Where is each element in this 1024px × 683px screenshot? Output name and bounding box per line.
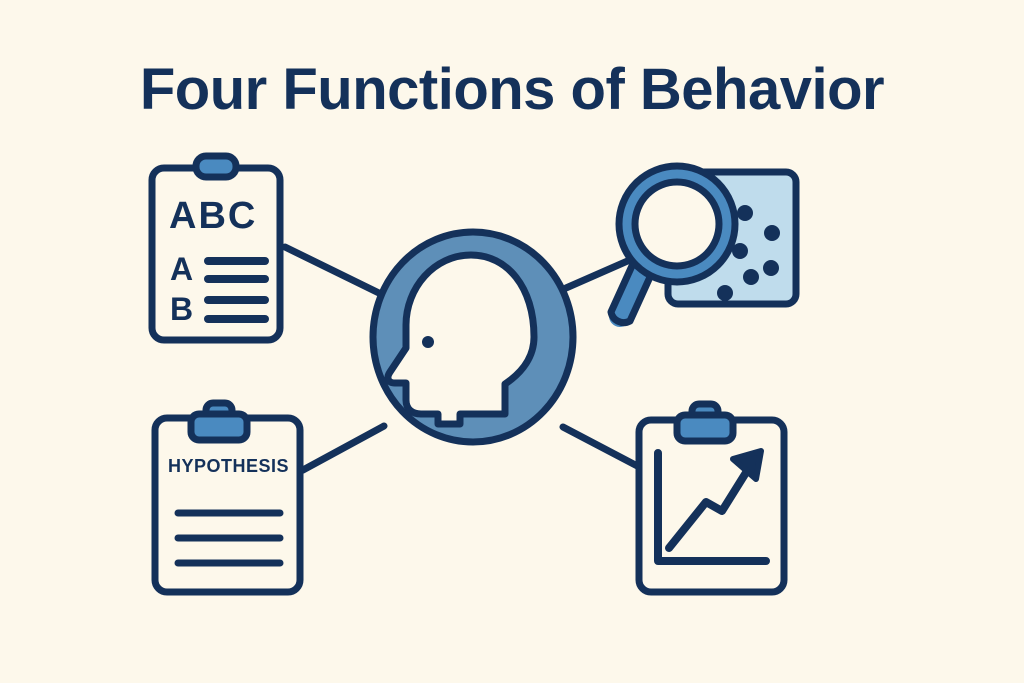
- abc-clipboard-clip-icon: [196, 156, 236, 177]
- hypothesis-clipboard-heading: HYPOTHESIS: [168, 456, 289, 476]
- four-functions-diagram: ABC A B: [0, 0, 1024, 683]
- connector-center-to-trend-chart-clipboard: [563, 427, 645, 470]
- node-hypothesis-clipboard[interactable]: HYPOTHESIS: [155, 403, 300, 592]
- abc-clipboard-row-letter-a: A: [170, 251, 193, 287]
- data-point: [717, 285, 733, 301]
- page-root: Four Functions of Behavior ABC A: [0, 0, 1024, 683]
- node-abc-clipboard[interactable]: ABC A B: [152, 156, 280, 340]
- connector-center-to-abc-clipboard: [285, 247, 383, 295]
- head-eye-icon: [422, 336, 434, 348]
- data-point: [763, 260, 779, 276]
- diagram-canvas: ABC A B: [0, 0, 1024, 683]
- abc-clipboard-row-letter-b: B: [170, 291, 193, 327]
- data-point: [737, 205, 753, 221]
- data-point: [764, 225, 780, 241]
- node-trend-chart-clipboard[interactable]: [639, 404, 784, 592]
- center-node[interactable]: [373, 232, 573, 442]
- abc-clipboard-heading: ABC: [169, 195, 257, 237]
- connector-center-to-hypothesis-clipboard: [303, 426, 384, 470]
- data-point: [743, 269, 759, 285]
- trend-clipboard-clip-icon: [677, 415, 733, 441]
- magnifier-lens-ring: [627, 174, 727, 274]
- node-magnifier-data[interactable]: [611, 166, 796, 323]
- hypothesis-clipboard-clip-icon: [191, 414, 247, 440]
